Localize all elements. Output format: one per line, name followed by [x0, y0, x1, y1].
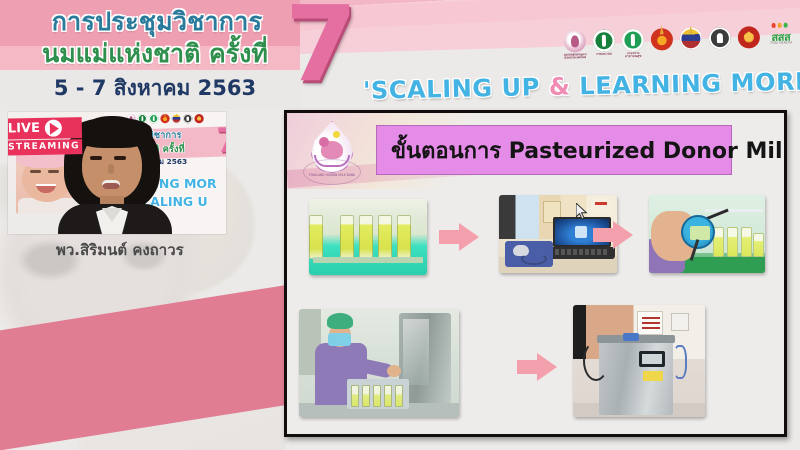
presentation-slide-panel[interactable]: THAILAND HUMAN MILK BANK ขั้นตอนการ Past… — [284, 110, 787, 437]
live-badge-row: LIVE — [8, 117, 82, 140]
logo-disc — [680, 27, 702, 49]
department-of-health-logo: กระทรวงสาธารณสุข — [621, 29, 646, 60]
speaker-name-label: พว.สิริมนต์ คงถาวร — [56, 238, 184, 262]
university-seal-logo — [708, 27, 733, 58]
drop-highlight-large — [333, 131, 340, 138]
logo-disc — [564, 30, 586, 52]
baby-head-icon — [319, 137, 329, 147]
poster-logo-7 — [194, 114, 204, 127]
live-streaming-badge: LIVE STREAMING — [8, 117, 82, 156]
arrow-right-2 — [593, 221, 633, 249]
thai-emblem-logo — [679, 27, 704, 58]
tagline-prefix: 'SCALING UP — [363, 73, 549, 105]
conference-dates: 5 - 7 สิงหาคม 2563 — [20, 72, 290, 105]
tagline-suffix: LEARNING MORE' — [570, 67, 800, 100]
photo-digital-thermometer-in-hand — [649, 195, 765, 273]
sponsor-logo-row: มูลนิธิศูนย์นมแม่แห่งประเทศไทย กรมอนามัย… — [563, 25, 797, 60]
logo-caption: กรมอนามัย — [592, 52, 616, 60]
red-seal-logo — [737, 26, 762, 57]
thaihealth-logo: สสส THAI HEALTH — [766, 25, 797, 56]
tagline-ampersand: & — [549, 72, 571, 100]
streaming-label: STREAMING — [8, 139, 82, 156]
royal-college-emblem-logo — [650, 28, 675, 59]
arrow-right-3 — [517, 353, 557, 381]
slide-title-banner: ขั้นตอนการ Pasteurized Donor Milk — [376, 125, 732, 175]
logo-caption: กระทรวงสาธารณสุข — [621, 52, 645, 60]
arrow-right-1 — [439, 223, 479, 251]
slide-title: ขั้นตอนการ Pasteurized Donor Milk — [391, 133, 787, 168]
breastfeeding-foundation-logo: มูลนิธิศูนย์นมแม่แห่งประเทศไทย — [563, 30, 588, 61]
logo-disc — [622, 29, 644, 51]
photo-pasteurizer-machine — [573, 305, 705, 417]
play-icon — [45, 120, 62, 137]
conference-title-line2: นมแม่แห่งชาติ ครั้งที่ — [14, 34, 296, 74]
human-milk-bank-drop-logo: THAILAND HUMAN MILK BANK — [301, 119, 363, 187]
logo-disc — [709, 27, 731, 49]
conference-edition-number: 7 — [285, 0, 357, 96]
logo-disc — [738, 26, 760, 48]
photo-nurse-loading-bottles — [299, 309, 459, 417]
logo-ring-text: THAILAND HUMAN MILK BANK — [303, 159, 361, 185]
logo-disc — [651, 28, 673, 50]
live-label: LIVE — [8, 121, 40, 137]
speaker-webcam-inset[interactable]: การประชุมวิชาการ นมแม่แห่งชาติ ครั้งที่ … — [8, 112, 226, 234]
thaihealth-sublabel: THAI HEALTH — [766, 40, 796, 45]
conference-header-banner: การประชุมวิชาการ นมแม่แห่งชาติ ครั้งที่ … — [0, 0, 800, 110]
logo-caption: มูลนิธิศูนย์นมแม่แห่งประเทศไทย — [563, 53, 587, 61]
screen: การประชุมวิชาการ นมแม่แห่งชาติ ครั้งที่ … — [0, 0, 800, 450]
poster-edition-number: 7 — [216, 124, 226, 158]
mouse-pointer — [576, 203, 588, 221]
poster-logo-6 — [183, 114, 193, 127]
photo-milk-bottle-rack — [309, 199, 427, 275]
logo-disc — [593, 29, 615, 51]
ministry-of-public-health-logo: กรมอนามัย — [592, 29, 617, 60]
